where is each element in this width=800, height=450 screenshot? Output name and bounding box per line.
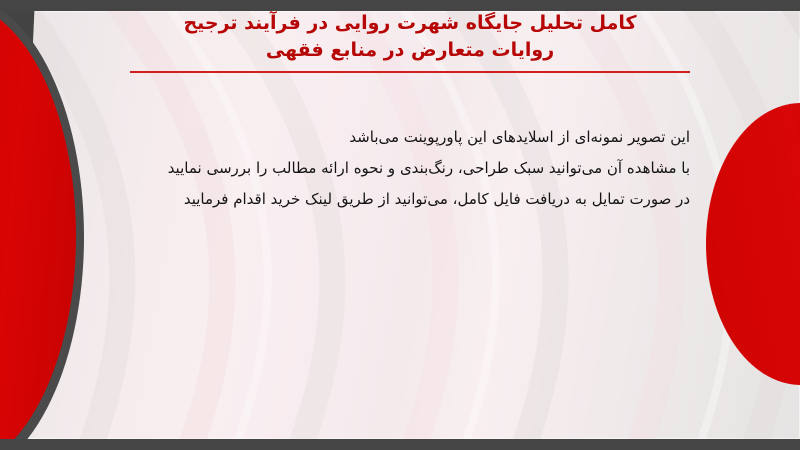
presentation-slide: کامل تحلیل جایگاه شهرت روایی در فرآیند ت… [0,0,800,450]
slide-body-line-3: در صورت تمایل به دریافت فایل کامل، می‌تو… [100,184,690,215]
slide-title-line-2: روایات متعارض در منابع فقهی [120,37,700,64]
right-red-circle-shape [706,103,800,385]
slide-title-line-1: کامل تحلیل جایگاه شهرت روایی در فرآیند ت… [120,10,700,37]
slide-body-line-1: این تصویر نمونه‌ای از اسلایدهای این پاور… [100,122,690,153]
left-red-lens-shape [0,11,76,439]
slide-body-line-2: با مشاهده آن می‌توانید سبک طراحی، رنگ‌بن… [100,153,690,184]
left-decoration-clip [0,11,140,439]
slide-body-block: این تصویر نمونه‌ای از اسلایدهای این پاور… [100,122,690,215]
title-underline-rule [130,71,690,73]
right-decoration-clip [680,11,800,439]
slide-title-block: کامل تحلیل جایگاه شهرت روایی در فرآیند ت… [120,10,700,73]
